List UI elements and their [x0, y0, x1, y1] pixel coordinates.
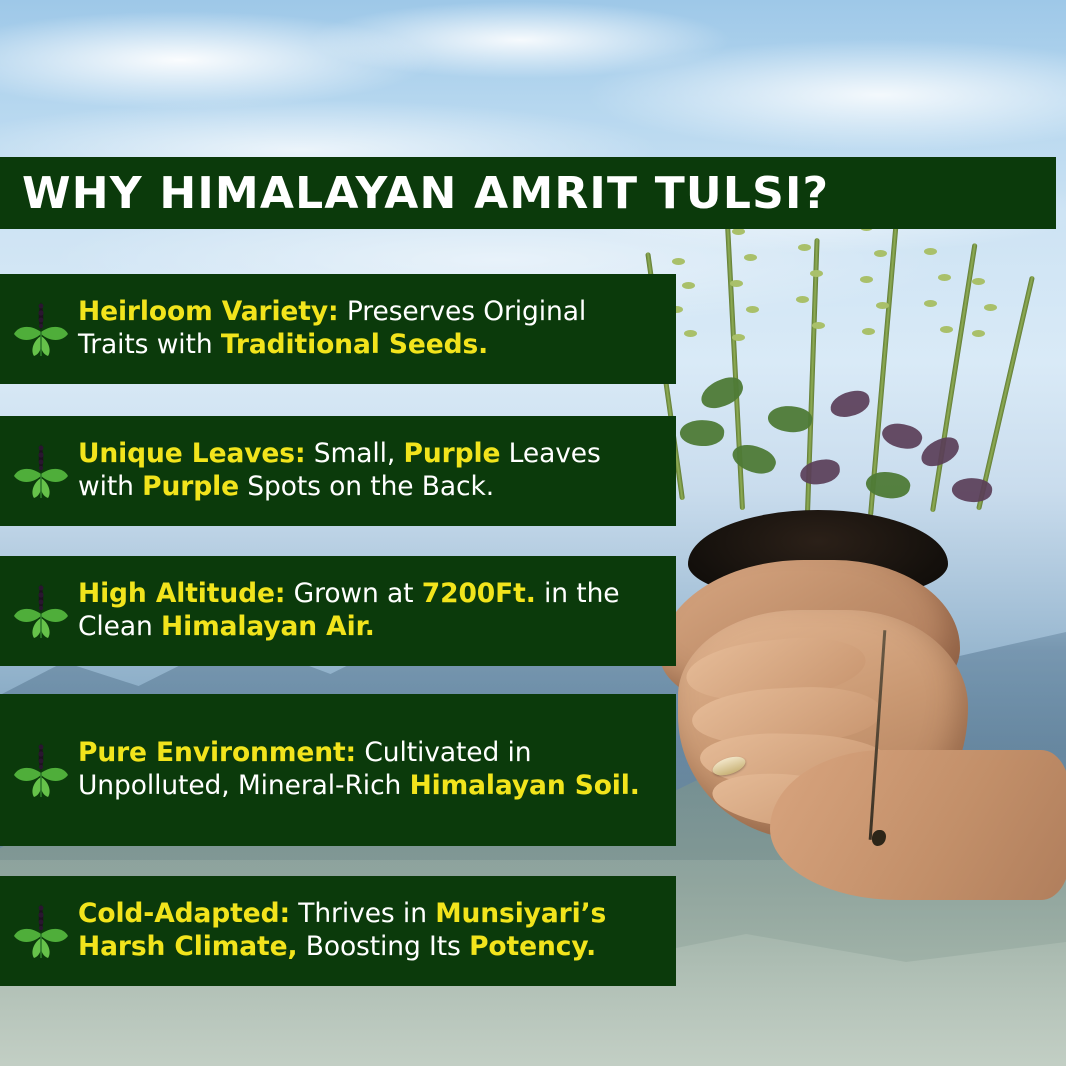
tulsi-leaf-icon	[10, 898, 72, 962]
feature-text: Unique Leaves: Small, Purple Leaves with…	[78, 437, 658, 504]
wrist	[770, 750, 1066, 900]
tulsi-leaf-icon	[10, 438, 72, 502]
tulsi-plant	[620, 210, 1050, 570]
headline-band: WHY HIMALAYAN AMRIT TULSI?	[0, 157, 1056, 229]
poster: WHY HIMALAYAN AMRIT TULSI? Heirloom Vari…	[0, 0, 1066, 1066]
feature-text: High Altitude: Grown at 7200Ft. in the C…	[78, 577, 658, 644]
feature-row-cold-adapted: Cold-Adapted: Thrives in Munsiyari’s Har…	[0, 876, 676, 986]
feature-row-pure-environment: Pure Environment: Cultivated in Unpollut…	[0, 694, 676, 846]
feature-text: Cold-Adapted: Thrives in Munsiyari’s Har…	[78, 897, 658, 964]
feature-row-unique-leaves: Unique Leaves: Small, Purple Leaves with…	[0, 416, 676, 526]
feature-text: Heirloom Variety: Preserves Original Tra…	[78, 295, 658, 362]
tulsi-leaf-icon	[10, 578, 72, 642]
feature-text: Pure Environment: Cultivated in Unpollut…	[78, 736, 658, 803]
page-title: WHY HIMALAYAN AMRIT TULSI?	[0, 168, 829, 219]
feature-row-heirloom-variety: Heirloom Variety: Preserves Original Tra…	[0, 274, 676, 384]
feature-row-high-altitude: High Altitude: Grown at 7200Ft. in the C…	[0, 556, 676, 666]
tulsi-leaf-icon	[10, 296, 72, 360]
tulsi-leaf-icon	[10, 737, 72, 801]
